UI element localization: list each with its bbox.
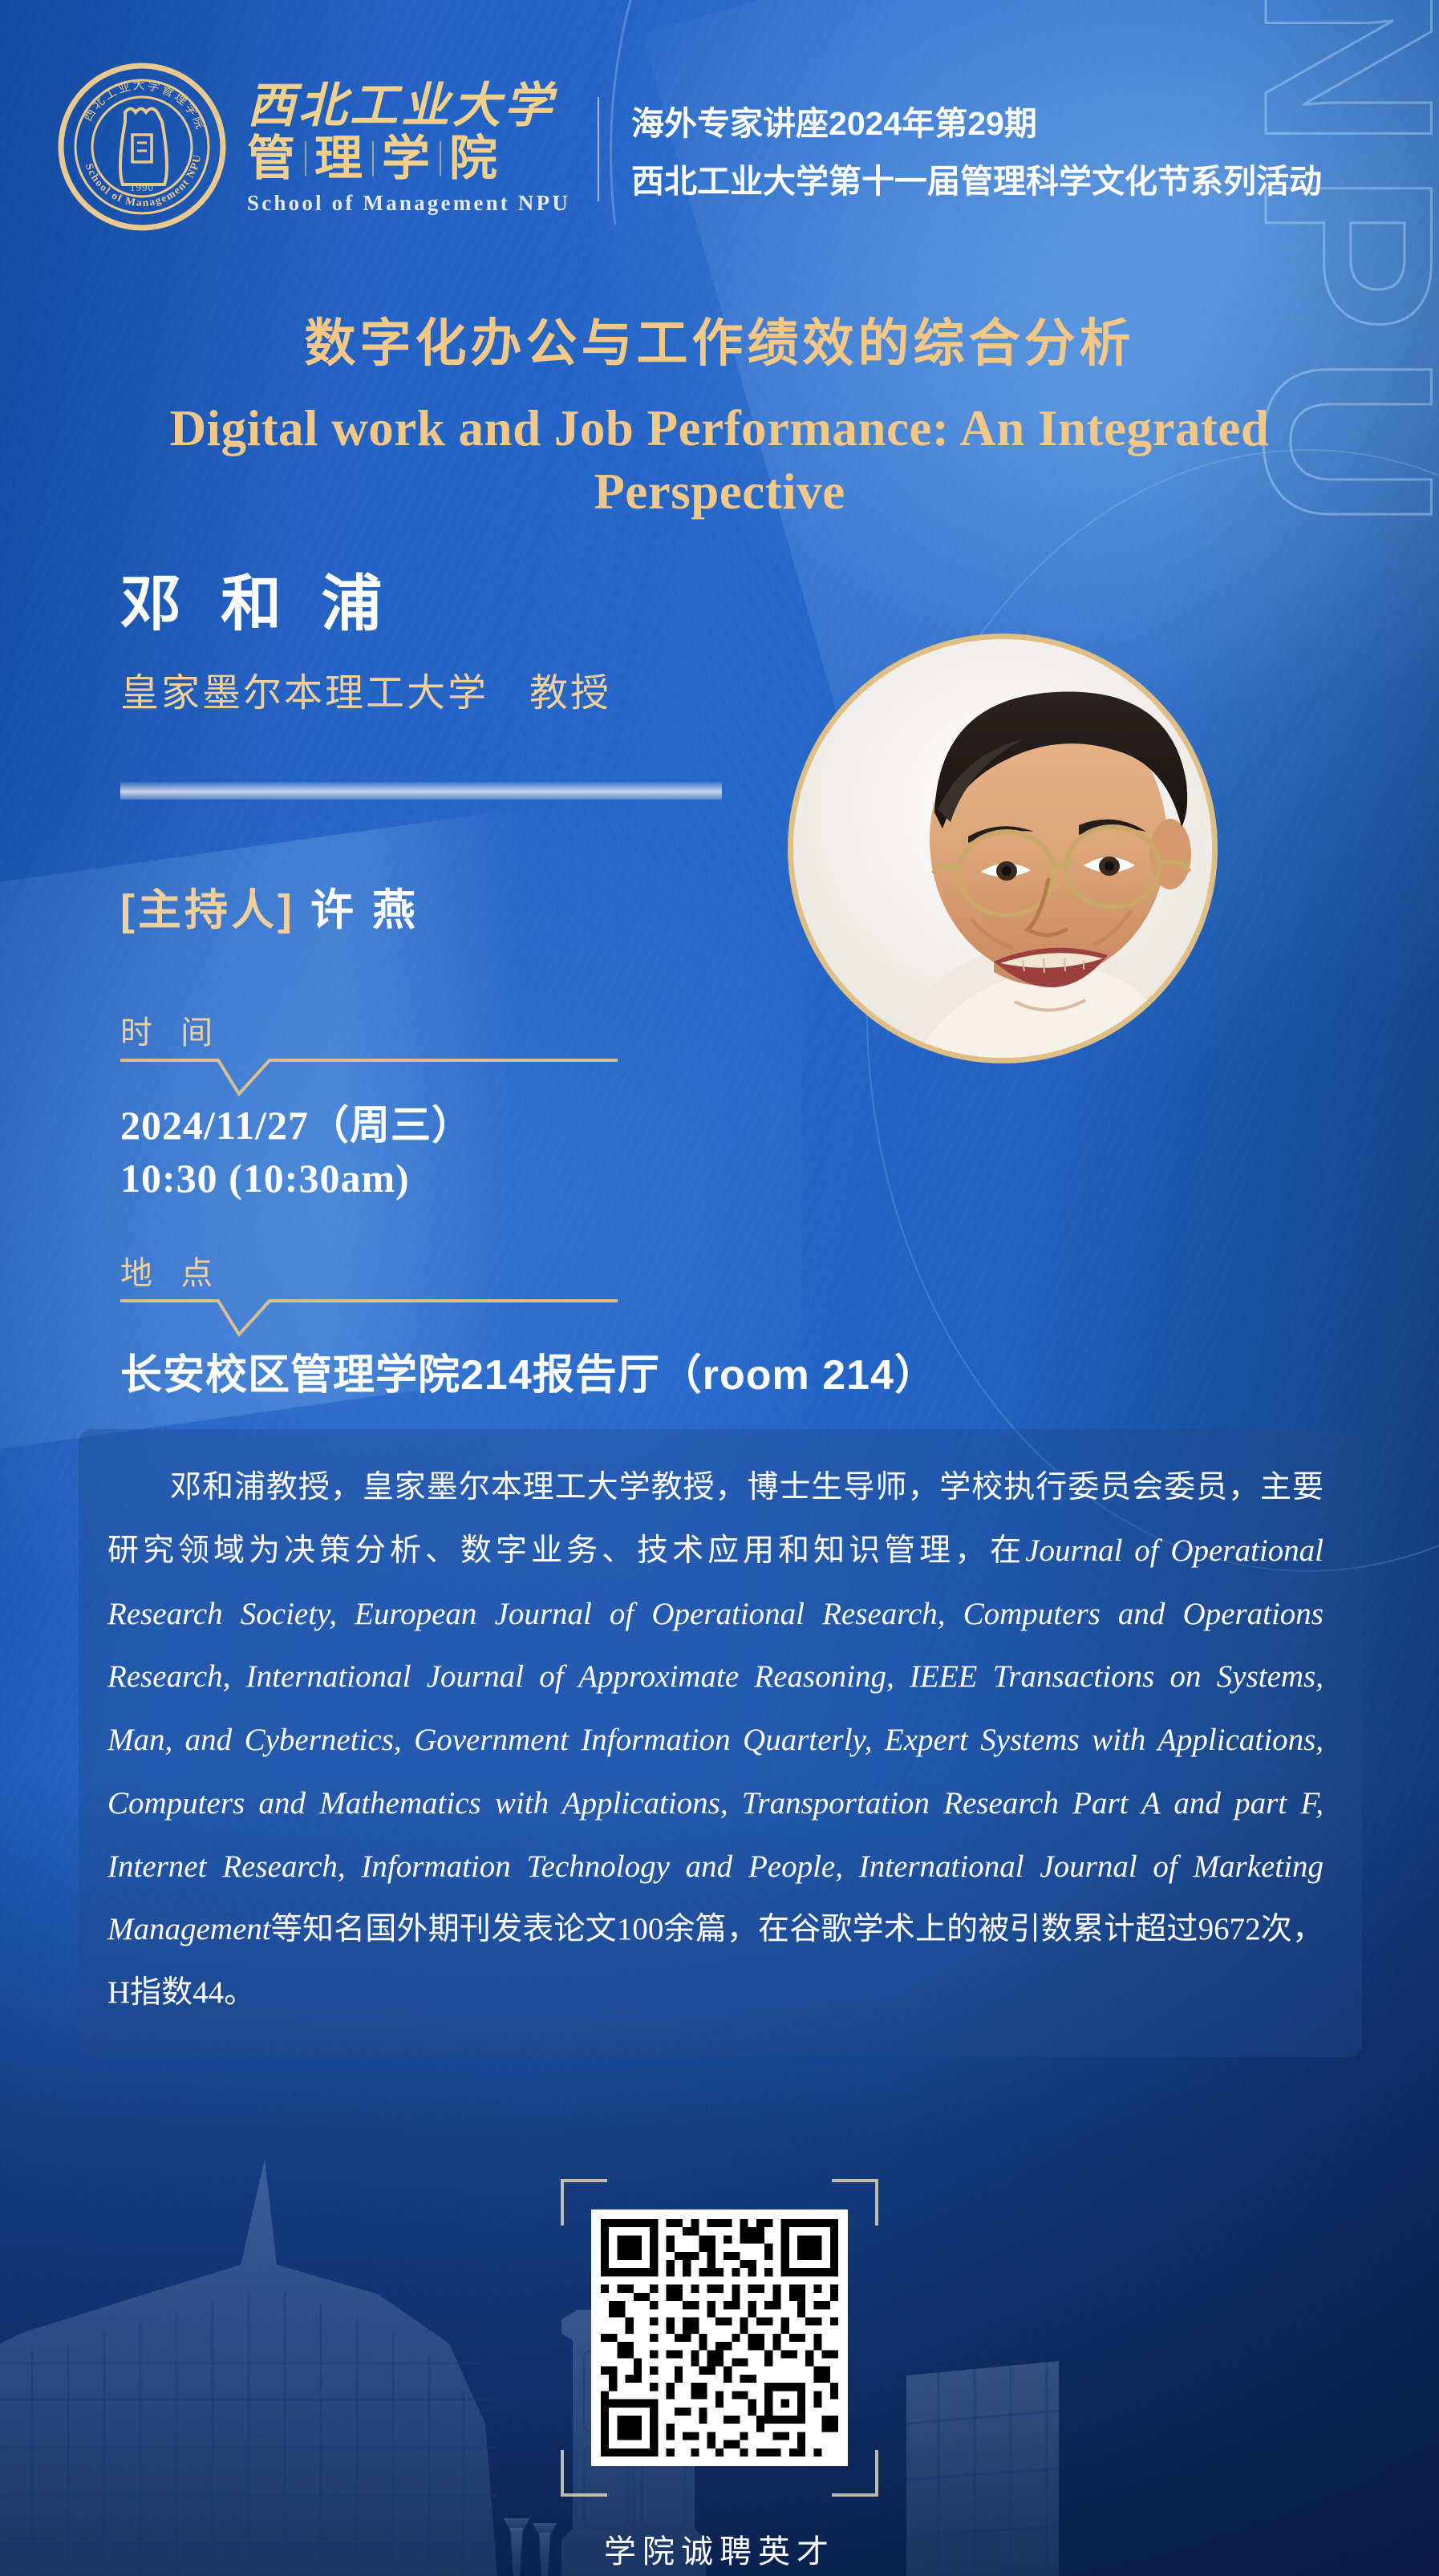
speaker-bio-panel: 邓和浦教授，皇家墨尔本理工大学教授，博士生导师，学校执行委员会委员，主要研究领域… [79,1429,1362,2057]
bio-journal-list: Journal of Operational Research Society,… [107,1533,1323,1947]
time-notch-rule [120,1052,618,1099]
logo-char-3: 院 [449,132,499,185]
time-label: 时 间 [120,1007,222,1053]
logo-char-separator [305,141,306,176]
poster-header: 1990 西北工业大学管理学院 School of Management NPU… [0,0,1439,235]
time-date: 2024/11/27（周三） [120,1099,472,1152]
time-clock: 10:30 (10:30am) [120,1152,472,1205]
title-english: Digital work and Job Performance: An Int… [96,397,1343,524]
logo-char-separator [440,141,441,176]
place-label: 地 点 [120,1247,222,1294]
logo-char-1: 理 [314,132,364,185]
qr-code-icon[interactable] [591,2209,848,2466]
host-bracket-open: [ [120,886,138,934]
speaker-portrait [788,634,1218,1063]
logo-char-separator [372,141,374,176]
bio-part-2: 等知名国外期刊发表论文100余篇，在谷歌学术上的被引数累计超过9672次，H指数… [107,1912,1323,2010]
speaker-affiliation: 皇家墨尔本理工大学 教授 [120,661,842,717]
speaker-divider-bar [120,782,722,800]
title-chinese: 数字化办公与工作绩效的综合分析 [96,313,1343,375]
logo-english-name: School of Management NPU [247,191,570,216]
logo-char-2: 学 [382,132,432,185]
svg-text:1990: 1990 [130,181,154,193]
logo-university-name: 西北工业大学 [247,82,555,130]
header-vertical-divider [598,97,599,201]
qr-caption: 学院诚聘英才 [604,2525,835,2572]
header-subtitle-line-2: 西北工业大学第十一届管理科学文化节系列活动 [631,154,1322,202]
header-subtitle-line-1: 海外专家讲座2024年第29期 [631,96,1322,144]
time-value-group: 2024/11/27（周三） 10:30 (10:30am) [120,1099,472,1205]
host-line: [主持人] 许 燕 [120,874,419,938]
school-logo-wordmark: 西北工业大学 管 理 学 院 School of Management NPU [247,82,570,215]
host-name: 许 燕 [310,886,419,934]
title-block: 数字化办公与工作绩效的综合分析 Digital work and Job Per… [0,313,1439,523]
speaker-block: 邓 和 浦 皇家墨尔本理工大学 教授 [120,571,842,717]
svg-text:西北工业大学管理学院: 西北工业大学管理学院 [81,79,209,133]
speaker-name: 邓 和 浦 [120,571,842,638]
host-bracket-close: ] [278,886,295,934]
logo-char-0: 管 [247,132,297,185]
qr-frame [583,2201,856,2474]
place-value: 长安校区管理学院214报告厅（room 214） [120,1341,937,1401]
poster-canvas: NPU [0,0,1439,2576]
place-notch-rule [120,1293,618,1339]
host-label: 主持人 [138,886,278,934]
npu-seal-icon: 1990 西北工业大学管理学院 School of Management NPU [58,63,226,235]
header-subtitle-group: 海外专家讲座2024年第29期 西北工业大学第十一届管理科学文化节系列活动 [631,96,1322,202]
logo-school-name: 管 理 学 院 [247,132,499,185]
qr-section: 学院诚聘英才 [0,2201,1439,2572]
